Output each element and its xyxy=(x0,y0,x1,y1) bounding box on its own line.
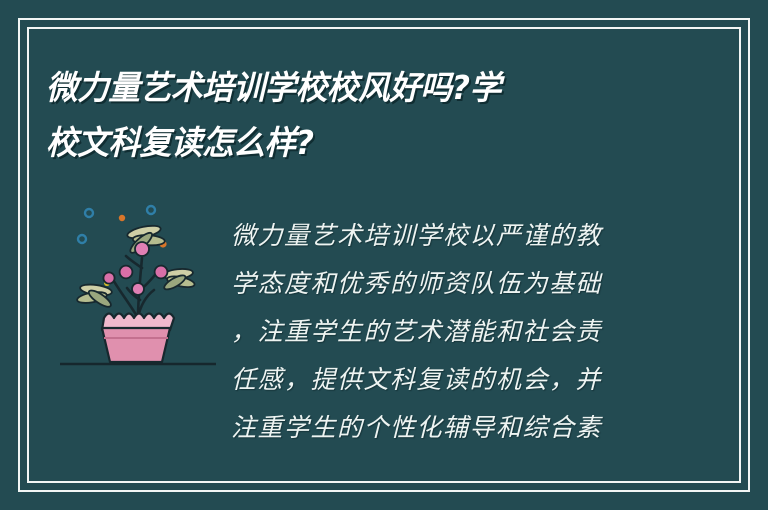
body-line-4: 任感，提供文科复读的机会，并 xyxy=(231,356,651,404)
body-line-1: 微力量艺术培训学校以严谨的教 xyxy=(231,212,651,260)
title-line-1: 微力量艺术培训学校校风好吗?学 xyxy=(46,60,584,115)
flower-pot xyxy=(102,314,174,363)
article-card: 微力量艺术培训学校校风好吗?学 校文科复读怎么样? xyxy=(0,0,768,510)
body-line-2: 学态度和优秀的师资队伍为基础 xyxy=(231,260,651,308)
body-line-3: ，注重学生的艺术潜能和社会责 xyxy=(231,308,651,356)
page-title: 微力量艺术培训学校校风好吗?学 校文科复读怎么样? xyxy=(46,60,606,170)
body-line-5: 注重学生的个性化辅导和综合素 xyxy=(231,404,651,452)
plant-flowers xyxy=(103,242,167,295)
potted-plant-illustration xyxy=(58,196,218,372)
article-body: 微力量艺术培训学校以严谨的教 学态度和优秀的师资队伍为基础 ，注重学生的艺术潜能… xyxy=(231,212,651,452)
title-line-2: 校文科复读怎么样? xyxy=(46,115,584,170)
